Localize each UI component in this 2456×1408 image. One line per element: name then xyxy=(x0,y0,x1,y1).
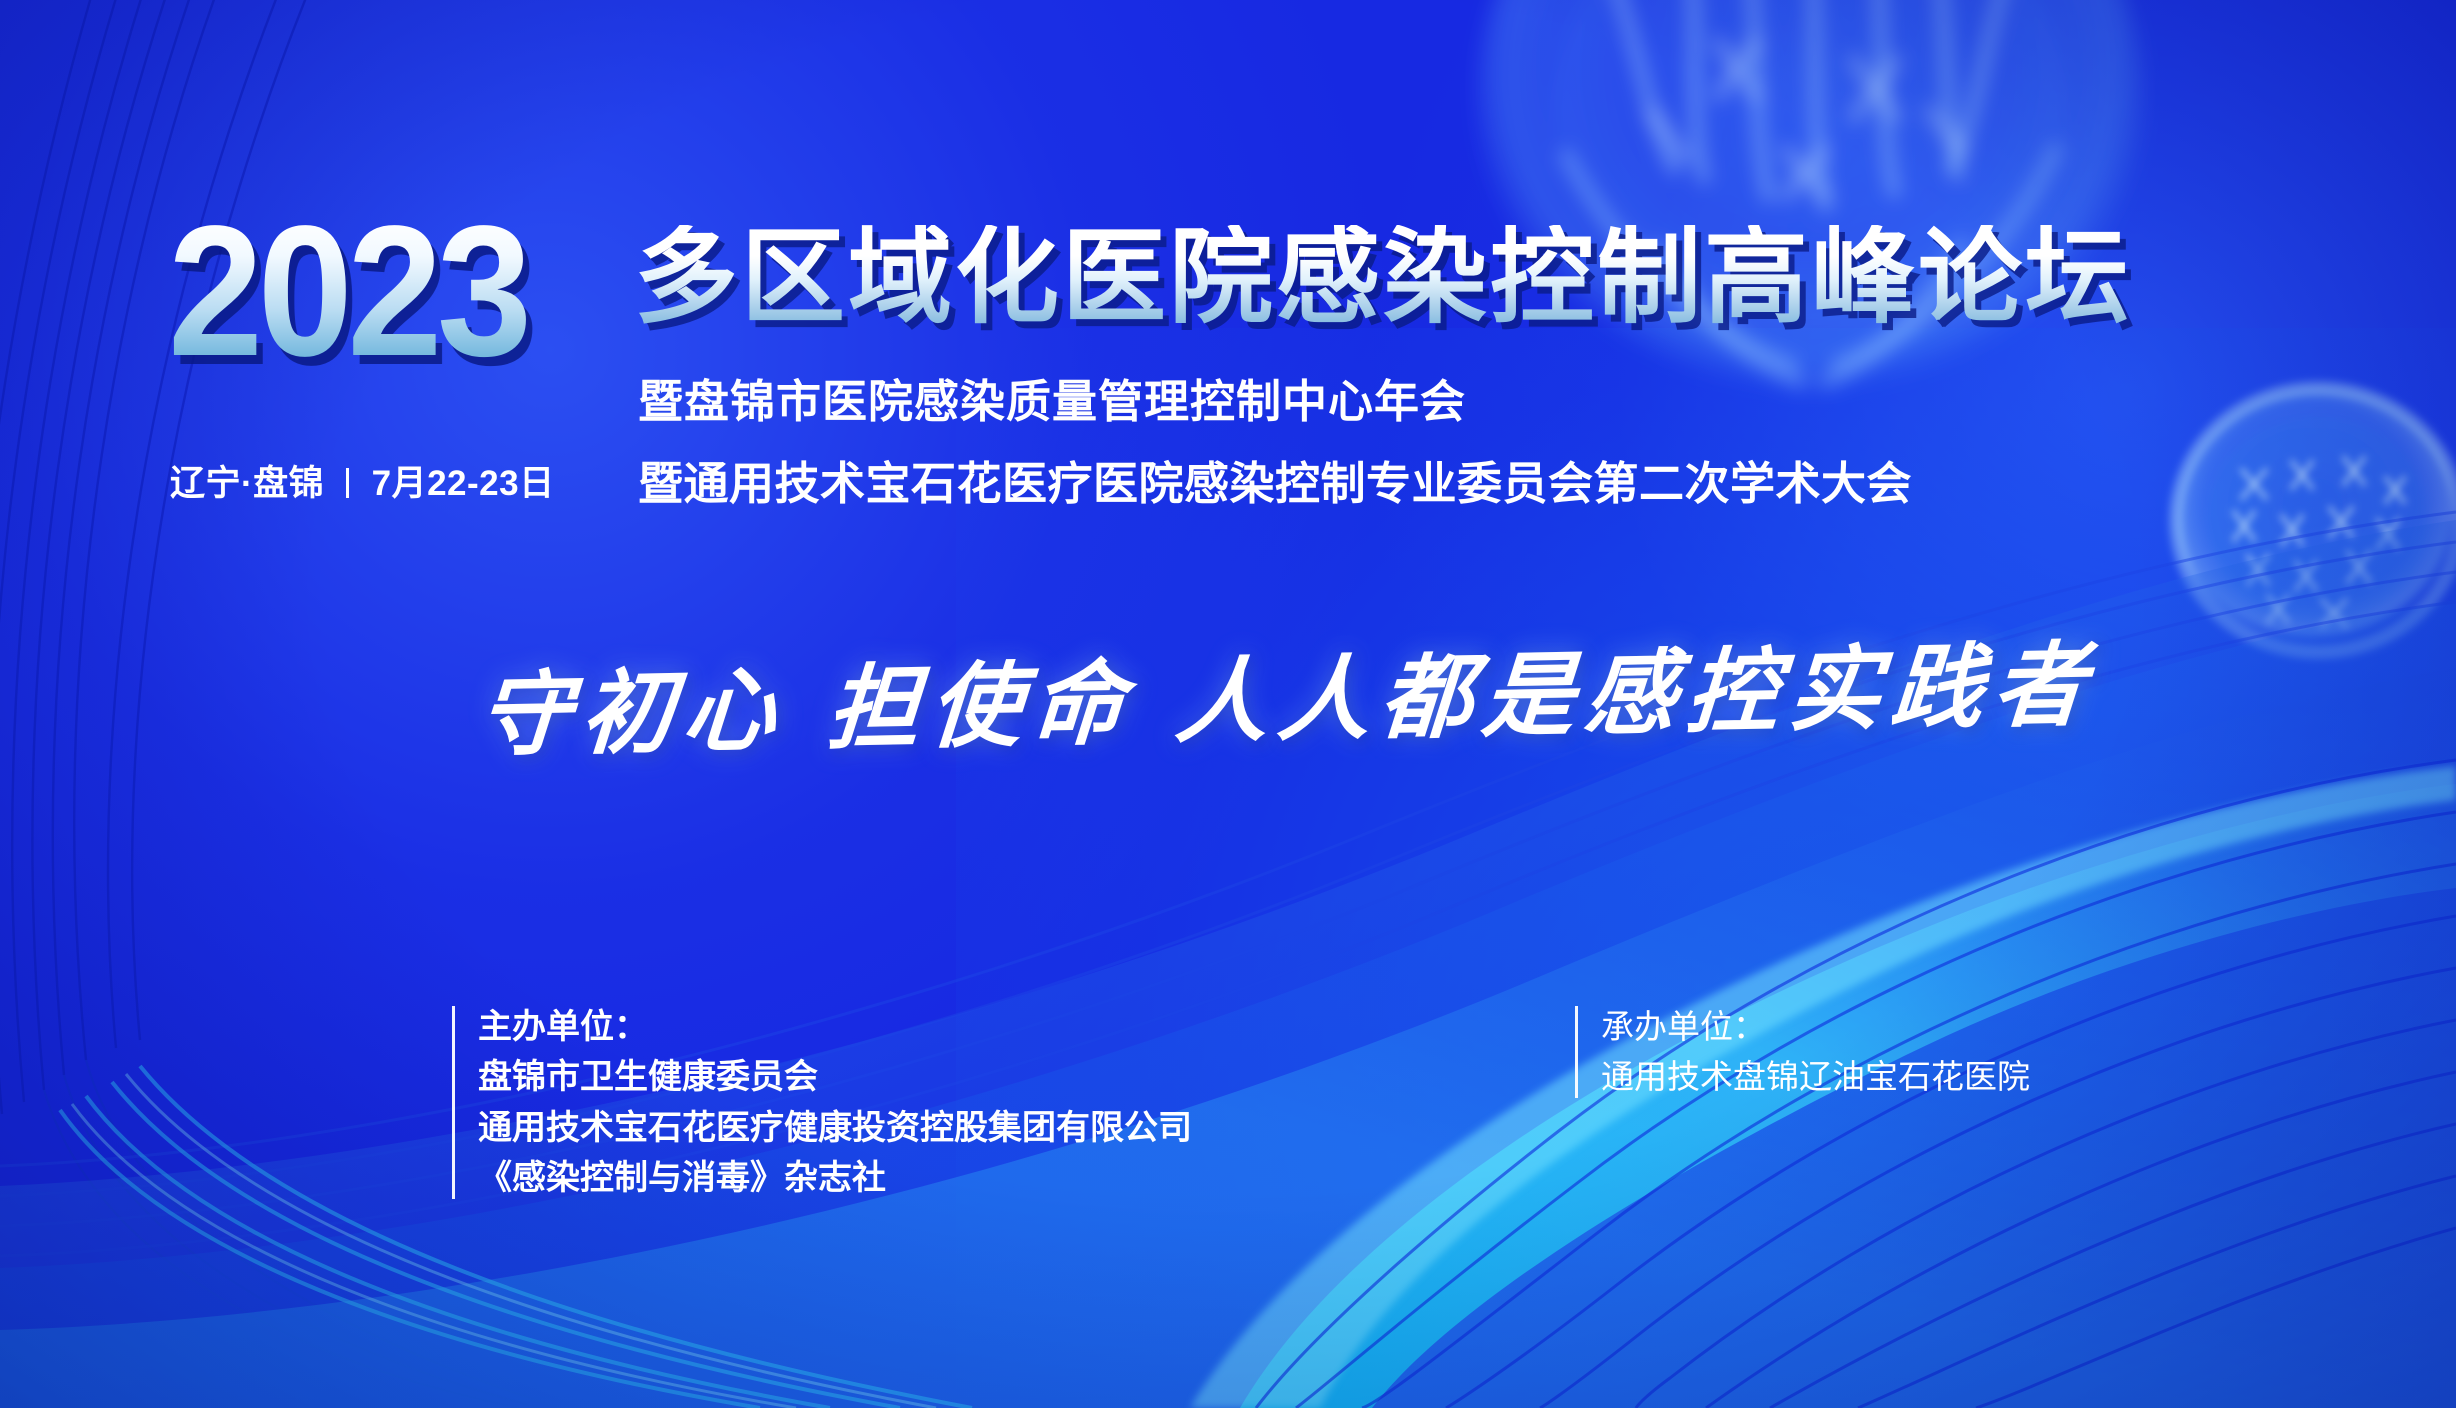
coorganizer-line: 通用技术盘锦辽油宝石花医院 xyxy=(1601,1052,2030,1102)
page-title: 多区域化医院感染控制高峰论坛 xyxy=(634,225,2132,329)
host-label: 主办单位： xyxy=(478,1002,1192,1052)
year-heading: 2023 xyxy=(168,216,527,369)
banner-content: 2023 辽宁·盘锦 7月22-23日 多区域化医院感染控制高峰论坛 暨盘锦市医… xyxy=(0,0,2456,1408)
separator-bar xyxy=(346,468,349,498)
place-date-line: 辽宁·盘锦 7月22-23日 xyxy=(170,455,555,506)
slogan-text: 守初心 担使命 人人都是感控实践者 xyxy=(475,633,2099,770)
host-line: 盘锦市卫生健康委员会 xyxy=(478,1052,1192,1102)
conference-banner: 2023 辽宁·盘锦 7月22-23日 多区域化医院感染控制高峰论坛 暨盘锦市医… xyxy=(0,0,2456,1408)
coorganizer-label: 承办单位： xyxy=(1601,1002,2030,1052)
place-label: 辽宁·盘锦 xyxy=(170,464,324,503)
host-line: 《感染控制与消毒》杂志社 xyxy=(478,1153,1192,1203)
coorganizer-block: 承办单位： 通用技术盘锦辽油宝石花医院 xyxy=(1575,1002,2030,1102)
host-line: 通用技术宝石花医疗健康投资控股集团有限公司 xyxy=(478,1103,1192,1153)
host-organization-block: 主办单位： 盘锦市卫生健康委员会 通用技术宝石花医疗健康投资控股集团有限公司 《… xyxy=(452,1002,1192,1203)
subtitle-line-2: 暨通用技术宝石花医疗医院感染控制专业委员会第二次学术大会 xyxy=(638,447,1912,512)
date-label: 7月22-23日 xyxy=(372,464,555,503)
subtitle-line-1: 暨盘锦市医院感染质量管理控制中心年会 xyxy=(638,365,1466,430)
